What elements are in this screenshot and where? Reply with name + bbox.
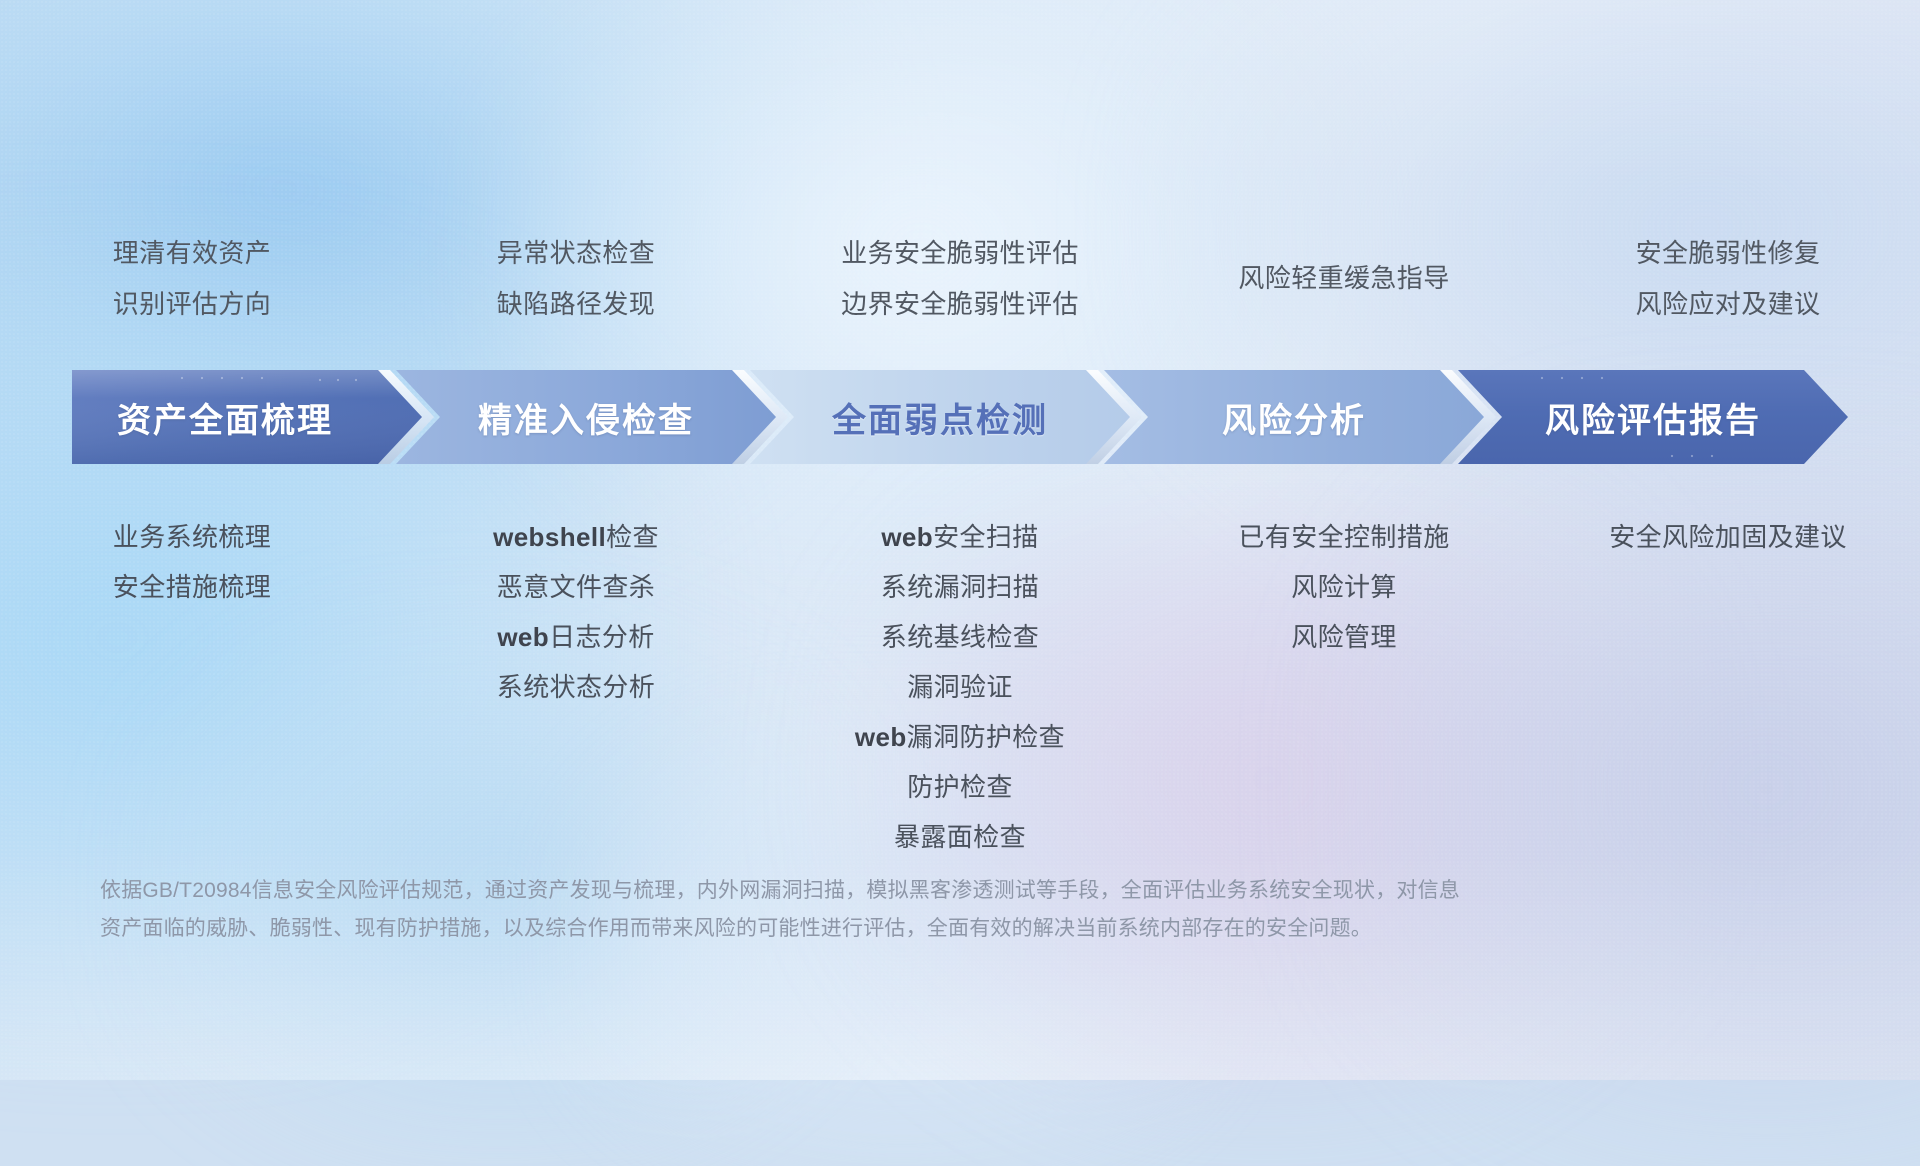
bottom-item-prefix: web (497, 622, 549, 652)
process-arrow-banner: 资产全面梳理精准入侵检查全面弱点检测风险分析风险评估报告 (72, 370, 1848, 464)
top-item: 业务安全脆弱性评估 (841, 228, 1079, 279)
footnote-paragraph: 依据GB/T20984信息安全风险评估规范，通过资产发现与梳理，内外网漏洞扫描，… (100, 872, 1660, 948)
bottom-item: 风险管理 (1291, 612, 1397, 662)
top-item: 风险轻重缓急指导 (1238, 253, 1449, 304)
bottom-item: web安全扫描 (881, 512, 1038, 562)
top-item: 风险应对及建议 (1636, 279, 1821, 330)
bottom-item: webshell检查 (493, 512, 659, 562)
bottom-item: 防护检查 (907, 762, 1013, 812)
top-column-3: 业务安全脆弱性评估边界安全脆弱性评估 (768, 228, 1152, 330)
arrow-banner-svg (72, 370, 1848, 464)
bottom-item: 漏洞验证 (907, 662, 1013, 712)
top-column-1: 理清有效资产识别评估方向 (0, 228, 384, 330)
top-item: 理清有效资产 (113, 228, 271, 279)
bottom-item: web日志分析 (497, 612, 654, 662)
footnote-line-1: 依据GB/T20984信息安全风险评估规范，通过资产发现与梳理，内外网漏洞扫描，… (100, 872, 1660, 910)
top-column-5: 安全脆弱性修复风险应对及建议 (1536, 228, 1920, 330)
top-column-4: 风险轻重缓急指导 (1152, 228, 1536, 330)
top-item: 安全脆弱性修复 (1636, 228, 1821, 279)
bottom-column-5: 安全风险加固及建议 (1536, 512, 1920, 862)
top-item: 边界安全脆弱性评估 (841, 279, 1079, 330)
top-item: 异常状态检查 (497, 228, 655, 279)
top-column-2: 异常状态检查缺陷路径发现 (384, 228, 768, 330)
bottom-item-text: 日志分析 (549, 622, 655, 652)
bottom-item-prefix: web (881, 522, 933, 552)
bottom-item-text: 安全扫描 (933, 522, 1039, 552)
bottom-column-3: web安全扫描系统漏洞扫描系统基线检查漏洞验证web漏洞防护检查防护检查暴露面检… (768, 512, 1152, 862)
bottom-column-1: 业务系统梳理安全措施梳理 (0, 512, 384, 862)
bottom-item: 恶意文件查杀 (497, 562, 655, 612)
bottom-item-text: 检查 (606, 522, 659, 552)
bottom-item-prefix: webshell (493, 522, 606, 552)
bottom-column-4: 已有安全控制措施风险计算风险管理 (1152, 512, 1536, 862)
bottom-item: 系统漏洞扫描 (881, 562, 1039, 612)
top-item: 识别评估方向 (113, 279, 271, 330)
bottom-column-2: webshell检查恶意文件查杀web日志分析系统状态分析 (384, 512, 768, 862)
bottom-item: 业务系统梳理 (113, 512, 271, 562)
slide-content: 理清有效资产识别评估方向异常状态检查缺陷路径发现业务安全脆弱性评估边界安全脆弱性… (0, 0, 1920, 1080)
top-labels-row: 理清有效资产识别评估方向异常状态检查缺陷路径发现业务安全脆弱性评估边界安全脆弱性… (0, 228, 1920, 330)
bottom-item-prefix: web (855, 722, 907, 752)
bottom-item: web漏洞防护检查 (855, 712, 1065, 762)
bottom-item: 已有安全控制措施 (1238, 512, 1449, 562)
bottom-item: 安全风险加固及建议 (1609, 512, 1847, 562)
bottom-item-text: 漏洞防护检查 (907, 722, 1065, 752)
bottom-item: 系统状态分析 (497, 662, 655, 712)
bottom-labels-row: 业务系统梳理安全措施梳理webshell检查恶意文件查杀web日志分析系统状态分… (0, 512, 1920, 862)
bottom-item: 风险计算 (1291, 562, 1397, 612)
bottom-item: 暴露面检查 (894, 812, 1026, 862)
footnote-line-2: 资产面临的威胁、脆弱性、现有防护措施，以及综合作用而带来风险的可能性进行评估，全… (100, 910, 1660, 948)
top-item: 缺陷路径发现 (497, 279, 655, 330)
bottom-item: 安全措施梳理 (113, 562, 271, 612)
bottom-item: 系统基线检查 (881, 612, 1039, 662)
